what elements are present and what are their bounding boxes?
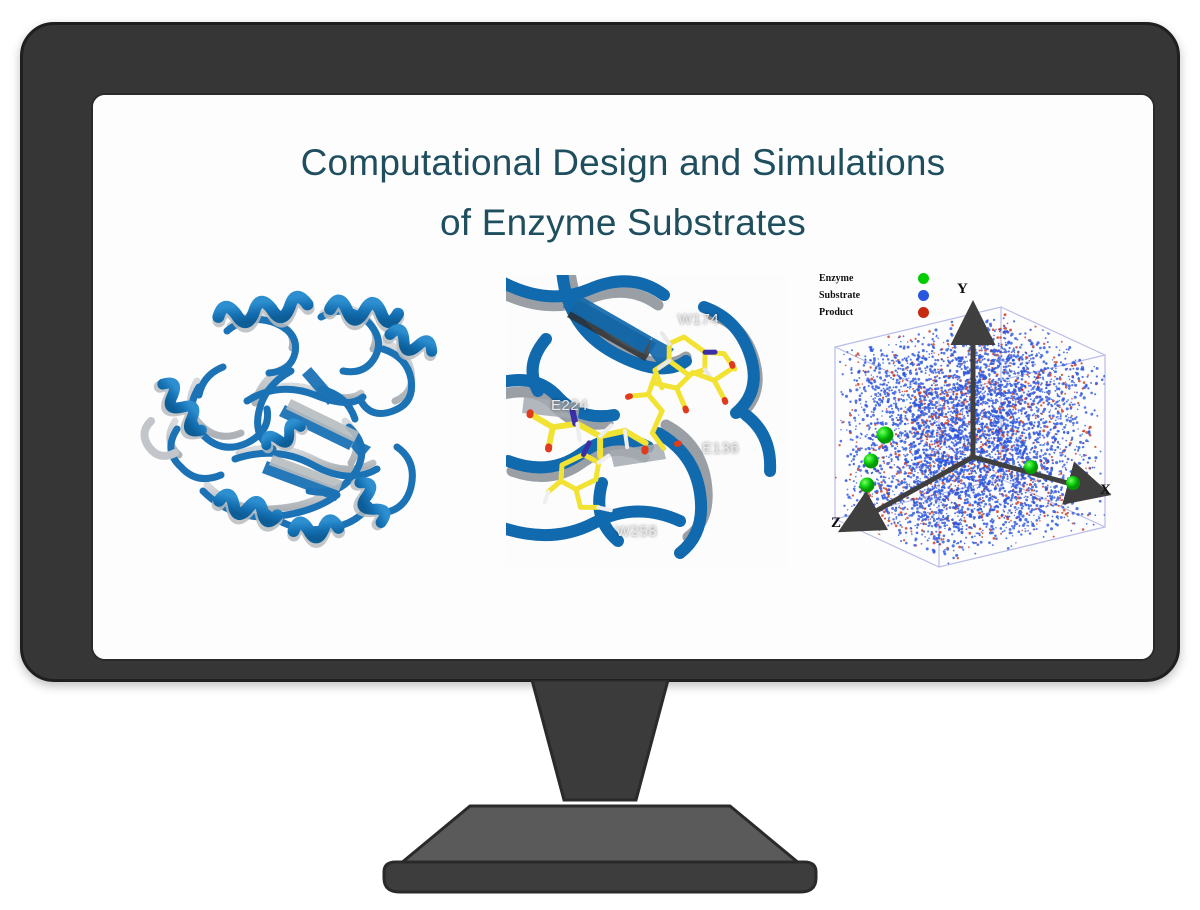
monitor-bezel: Computational Design and Simulations of …	[20, 22, 1180, 682]
legend-label-substrate: Substrate	[819, 290, 860, 301]
screenshot-root: Computational Design and Simulations of …	[0, 0, 1200, 910]
legend-item-product: Product	[819, 305, 929, 320]
legend-label-enzyme: Enzyme	[819, 273, 853, 284]
axis-label-x: X	[1100, 482, 1111, 499]
active-site-svg	[506, 275, 788, 567]
slide-title-line-1: Computational Design and Simulations	[93, 133, 1153, 193]
monitor-stand-base	[0, 800, 1200, 910]
monitor-screen: Computational Design and Simulations of …	[91, 93, 1155, 661]
axis-label-z: Z	[831, 515, 841, 532]
scatter-legend: Enzyme Substrate Product	[819, 271, 929, 322]
axis-label-y: Y	[957, 281, 968, 298]
presentation-slide: Computational Design and Simulations of …	[93, 95, 1153, 659]
md-simulation-figure: Enzyme Substrate Product	[805, 267, 1125, 577]
figure-row: W174 E224 E136 W258 Enzyme	[93, 267, 1153, 597]
legend-label-product: Product	[819, 307, 853, 318]
slide-title: Computational Design and Simulations of …	[93, 133, 1153, 253]
legend-swatch-product	[918, 307, 929, 318]
legend-item-substrate: Substrate	[819, 288, 929, 303]
active-site-closeup-figure: W174 E224 E136 W258	[506, 275, 788, 567]
slide-title-line-2: of Enzyme Substrates	[93, 193, 1153, 253]
legend-item-enzyme: Enzyme	[819, 271, 929, 286]
legend-swatch-substrate	[918, 290, 929, 301]
legend-swatch-enzyme	[918, 273, 929, 284]
protein-ribbon-overview-figure	[135, 271, 465, 571]
protein-ribbon-svg	[135, 271, 465, 571]
